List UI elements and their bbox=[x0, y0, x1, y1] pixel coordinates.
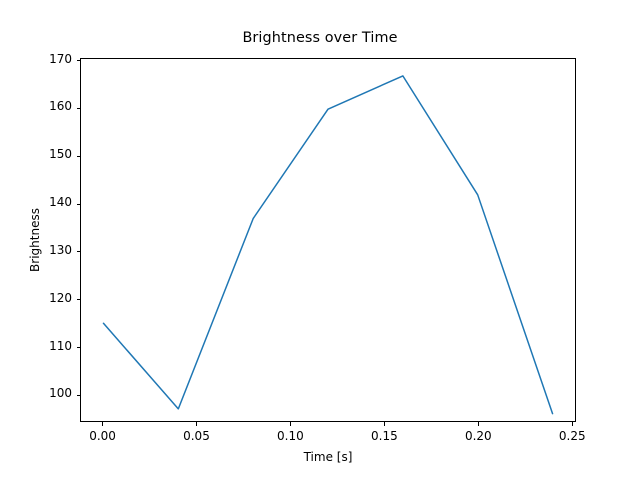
plot-area bbox=[80, 58, 576, 422]
y-tick-label: 140 bbox=[49, 195, 72, 209]
x-tick-mark bbox=[290, 422, 291, 426]
y-tick-mark bbox=[77, 299, 81, 300]
y-tick-label: 120 bbox=[49, 291, 72, 305]
x-tick-label: 0.10 bbox=[277, 429, 304, 443]
x-tick-mark bbox=[478, 422, 479, 426]
x-tick-label: 0.05 bbox=[183, 429, 210, 443]
y-axis-label: Brightness bbox=[28, 58, 42, 422]
y-tick-label: 110 bbox=[49, 339, 72, 353]
figure-canvas: Brightness over Time 1001101201301401501… bbox=[0, 0, 640, 480]
x-tick-label: 0.00 bbox=[89, 429, 116, 443]
x-tick-mark bbox=[196, 422, 197, 426]
y-tick-label: 130 bbox=[49, 243, 72, 257]
y-tick-label: 160 bbox=[49, 99, 72, 113]
line-series-svg bbox=[81, 59, 575, 421]
y-tick-label: 150 bbox=[49, 147, 72, 161]
y-tick-mark bbox=[77, 204, 81, 205]
y-tick-mark bbox=[77, 156, 81, 157]
y-tick-mark bbox=[77, 251, 81, 252]
y-tick-mark bbox=[77, 347, 81, 348]
y-tick-mark bbox=[77, 108, 81, 109]
x-tick-label: 0.20 bbox=[465, 429, 492, 443]
x-tick-mark bbox=[572, 422, 573, 426]
x-tick-mark bbox=[102, 422, 103, 426]
y-tick-label: 100 bbox=[49, 386, 72, 400]
x-axis-label: Time [s] bbox=[80, 450, 576, 464]
x-tick-mark bbox=[384, 422, 385, 426]
x-tick-label: 0.15 bbox=[371, 429, 398, 443]
brightness-line bbox=[103, 76, 552, 414]
x-tick-label: 0.25 bbox=[559, 429, 586, 443]
y-tick-mark bbox=[77, 395, 81, 396]
y-tick-label: 170 bbox=[49, 52, 72, 66]
chart-title: Brightness over Time bbox=[0, 30, 640, 46]
y-tick-mark bbox=[77, 60, 81, 61]
